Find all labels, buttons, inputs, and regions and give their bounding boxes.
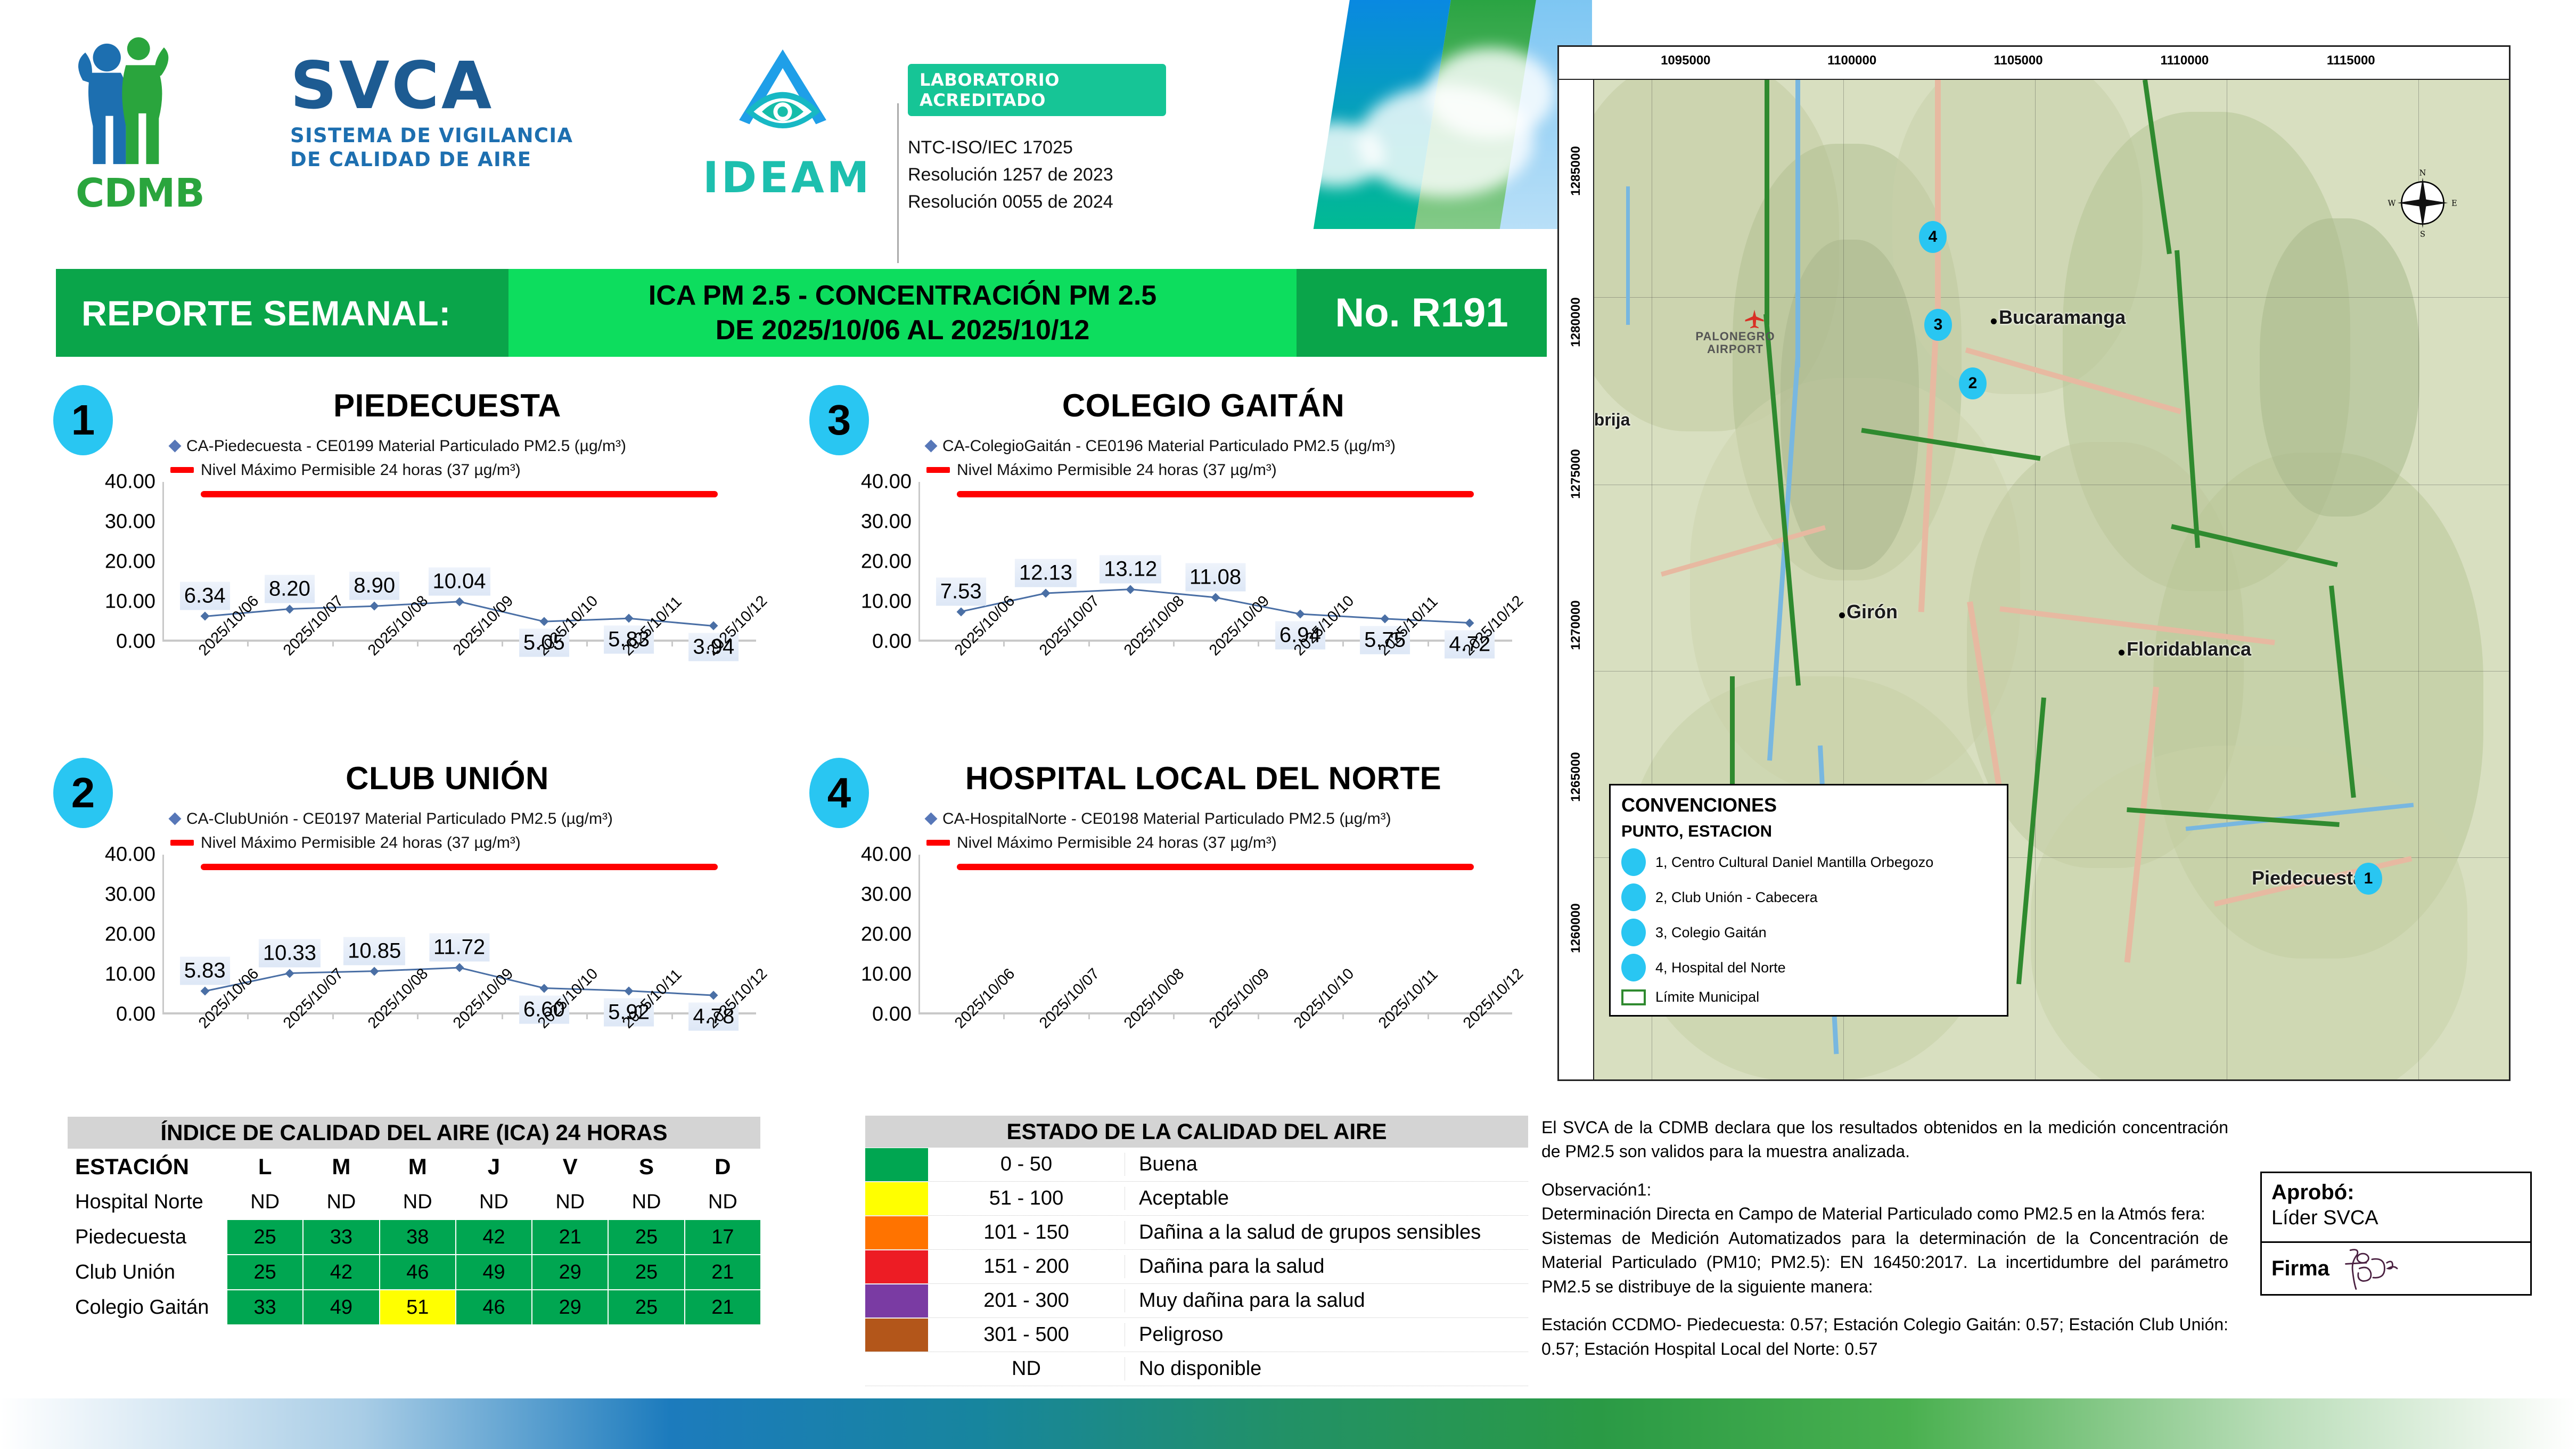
- chart-3-ytick-1: 30.00: [861, 511, 912, 534]
- series-marker-icon: [924, 812, 937, 825]
- chart-3-title: COLEGIO GAITÁN: [884, 387, 1523, 424]
- ica-station-name-0: Hospital Norte: [67, 1184, 227, 1219]
- chart-3-ytick-3: 10.00: [861, 591, 912, 613]
- ica-column-header-4: J: [456, 1149, 532, 1184]
- chart-2-datalabel-3: 11.72: [429, 934, 489, 962]
- declaration-text: El SVCA de la CDMB declara que los resul…: [1541, 1116, 2228, 1361]
- series-marker-icon: [168, 439, 181, 452]
- ica-cell-1-1: 33: [303, 1219, 379, 1255]
- ica-cell-2-5: 25: [608, 1255, 684, 1290]
- declaration-p4: Sistemas de Medición Automatizados para …: [1541, 1226, 2228, 1299]
- aqi-color-swatch-1: [865, 1182, 928, 1215]
- ica-cell-2-4: 29: [532, 1255, 608, 1290]
- report-page: CDMB SVCA SISTEMA DE VIGILANCIA DE CALID…: [0, 0, 2576, 1449]
- chart-1-number-badge: 1: [53, 385, 113, 455]
- ica-cell-2-3: 49: [456, 1255, 532, 1290]
- aqi-range-1: 51 - 100: [928, 1187, 1125, 1210]
- ica-cell-3-3: 46: [456, 1290, 532, 1325]
- ica-cell-3-5: 25: [608, 1290, 684, 1325]
- ica-table-caption: ÍNDICE DE CALIDAD DEL AIRE (ICA) 24 HORA…: [67, 1116, 761, 1149]
- chart-3: 3 COLEGIO GAITÁN CA-ColegioGaitán - CE01…: [804, 375, 1565, 727]
- chart-3-ytick-4: 0.00: [872, 631, 912, 653]
- chart-4-ytick-1: 30.00: [861, 883, 912, 906]
- ica-cell-0-6: ND: [685, 1184, 761, 1219]
- map-ytick-0: 1285000: [1569, 146, 1584, 195]
- chart-2-ytick-2: 20.00: [105, 923, 155, 946]
- map-legend-item-4: 4, Hospital del Norte: [1655, 960, 1786, 976]
- ica-cell-1-3: 42: [456, 1219, 532, 1255]
- svg-text:E: E: [2451, 199, 2457, 208]
- svg-text:N: N: [2419, 169, 2426, 178]
- ica-cell-3-1: 49: [303, 1290, 379, 1325]
- ica-column-header-0: ESTACIÓN: [67, 1149, 227, 1184]
- station-location-map: 10950001100000110500011100001115000 1285…: [1557, 45, 2511, 1081]
- chart-2-datalabel-2: 10.85: [343, 937, 405, 965]
- chart-2-legend: CA-ClubUnión - CE0197 Material Particula…: [170, 807, 613, 855]
- accreditation-badge: LABORATORIO ACREDITADO: [908, 64, 1166, 116]
- svca-logo: SVCA SISTEMA DE VIGILANCIA DE CALIDAD DE…: [290, 53, 620, 171]
- chart-3-legend: CA-ColegioGaitán - CE0196 Material Parti…: [926, 434, 1396, 482]
- aqi-range-5: 301 - 500: [928, 1323, 1125, 1346]
- map-xtick-2: 1105000: [1993, 53, 2042, 68]
- chart-4-title: HOSPITAL LOCAL DEL NORTE: [884, 760, 1523, 797]
- aqi-legend-row-0: 0 - 50 Buena: [865, 1148, 1528, 1182]
- aqi-legend-row-4: 201 - 300 Muy dañina para la salud: [865, 1284, 1528, 1318]
- logo-row: CDMB SVCA SISTEMA DE VIGILANCIA DE CALID…: [48, 24, 1166, 237]
- aqi-range-6: ND: [928, 1357, 1125, 1380]
- chart-2-datalabel-0: 5.83: [180, 957, 230, 985]
- ica-column-header-5: V: [532, 1149, 608, 1184]
- ica-cell-1-2: 38: [380, 1219, 456, 1255]
- ica-cell-3-2: 51: [380, 1290, 456, 1325]
- report-title-line1: ICA PM 2.5 - CONCENTRACIÓN PM 2.5: [649, 279, 1156, 313]
- table-row: Club Unión25424649292521: [67, 1255, 761, 1290]
- map-ytick-3: 1270000: [1569, 601, 1584, 650]
- aqi-label-1: Aceptable: [1125, 1187, 1229, 1210]
- aqi-legend-row-2: 101 - 150 Dañina a la salud de grupos se…: [865, 1216, 1528, 1250]
- approval-role: Líder SVCA: [2271, 1207, 2521, 1230]
- map-marker-4[interactable]: 4: [1919, 221, 1947, 253]
- ica-cell-2-2: 46: [380, 1255, 456, 1290]
- chart-1-datalabel-2: 8.90: [349, 572, 399, 600]
- ica-cell-3-6: 21: [685, 1290, 761, 1325]
- ica-cell-2-0: 25: [227, 1255, 303, 1290]
- ica-column-header-3: M: [380, 1149, 456, 1184]
- map-xtick-0: 1095000: [1661, 53, 1710, 68]
- map-legend-subtitle: PUNTO, ESTACION: [1621, 822, 1996, 841]
- chart-4-ytick-0: 40.00: [861, 844, 912, 866]
- airport-icon: [1744, 309, 1765, 329]
- chart-4-limit-legend: Nivel Máximo Permisible 24 horas (37 µg/…: [957, 831, 1277, 855]
- chart-1-datalabel-1: 8.20: [265, 575, 315, 603]
- ica-cell-0-5: ND: [608, 1184, 684, 1219]
- chart-1-datalabel-0: 6.34: [180, 582, 230, 610]
- ica-station-name-1: Piedecuesta: [67, 1219, 227, 1255]
- ica-column-header-7: D: [685, 1149, 761, 1184]
- map-marker-2[interactable]: 2: [1959, 367, 1987, 399]
- limit-line-icon: [170, 840, 194, 846]
- map-legend-title: CONVENCIONES: [1621, 794, 1996, 816]
- svca-subtitle-line2: DE CALIDAD DE AIRE: [290, 148, 620, 171]
- report-banner: REPORTE SEMANAL: ICA PM 2.5 - CONCENTRAC…: [56, 269, 1547, 357]
- map-ytick-4: 1265000: [1569, 752, 1584, 801]
- table-row: Hospital NorteNDNDNDNDNDNDND: [67, 1184, 761, 1219]
- chart-4-plot: 40.0030.0020.0010.000.00 2025/10/062025/…: [804, 855, 1565, 1100]
- svg-text:W: W: [2388, 199, 2395, 208]
- approval-title: Aprobó:: [2271, 1181, 2521, 1205]
- ica-station-name-3: Colegio Gaitán: [67, 1290, 227, 1325]
- accreditation-block: LABORATORIO ACREDITADO NTC-ISO/IEC 17025…: [908, 64, 1166, 216]
- aqi-status-legend: ESTADO DE LA CALIDAD DEL AIRE 0 - 50 Bue…: [865, 1116, 1528, 1386]
- chart-4: 4 HOSPITAL LOCAL DEL NORTE CA-HospitalNo…: [804, 748, 1565, 1100]
- aqi-legend-row-5: 301 - 500 Peligroso: [865, 1318, 1528, 1352]
- aqi-label-3: Dañina para la salud: [1125, 1255, 1325, 1278]
- chart-3-series-legend: CA-ColegioGaitán - CE0196 Material Parti…: [942, 434, 1396, 458]
- declaration-p3: Determinación Directa en Campo de Materi…: [1541, 1202, 2228, 1226]
- ideam-eye-icon: [729, 45, 836, 149]
- map-ytick-2: 1275000: [1569, 449, 1584, 498]
- map-xtick-3: 1110000: [2160, 53, 2209, 68]
- svca-acronym: SVCA: [290, 53, 620, 118]
- aqi-range-0: 0 - 50: [928, 1153, 1125, 1176]
- map-legend-item-3: 3, Colegio Gaitán: [1655, 924, 1767, 941]
- city-label-piedecuesta: Piedecuesta: [2252, 867, 2364, 889]
- ica-cell-0-3: ND: [456, 1184, 532, 1219]
- chart-4-ytick-4: 0.00: [872, 1003, 912, 1026]
- cdmb-logo: CDMB: [64, 37, 218, 213]
- map-canvas: PALONEGRO AIRPORT Bucaramanga Girón Flor…: [1594, 80, 2509, 1079]
- chart-3-limit-legend: Nivel Máximo Permisible 24 horas (37 µg/…: [957, 458, 1277, 482]
- airport-label: PALONEGRO AIRPORT: [1674, 330, 1796, 356]
- cdmb-logo-text: CDMB: [76, 170, 204, 216]
- ica-cell-2-1: 42: [303, 1255, 379, 1290]
- chart-1: 1 PIEDECUESTA CA-Piedecuesta - CE0199 Ma…: [48, 375, 809, 727]
- ideam-logo-text: IDEAM: [703, 153, 863, 202]
- aqi-color-swatch-2: [865, 1216, 928, 1249]
- ica-column-header-2: M: [303, 1149, 379, 1184]
- aqi-legend-caption: ESTADO DE LA CALIDAD DEL AIRE: [865, 1116, 1528, 1148]
- city-label-floridablanca: Floridablanca: [2127, 638, 2251, 660]
- chart-2-ytick-0: 40.00: [105, 844, 155, 866]
- map-legend-dot-icon-3: [1621, 919, 1646, 946]
- map-ytick-5: 1260000: [1569, 904, 1584, 953]
- report-banner-label: REPORTE SEMANAL:: [56, 269, 508, 357]
- chart-4-ytick-2: 20.00: [861, 923, 912, 946]
- series-marker-icon: [924, 439, 937, 452]
- chart-2-limit-legend: Nivel Máximo Permisible 24 horas (37 µg/…: [201, 831, 521, 855]
- aqi-color-swatch-6: [865, 1353, 928, 1386]
- ica-cell-2-6: 21: [685, 1255, 761, 1290]
- aqi-color-swatch-0: [865, 1148, 928, 1181]
- city-label-giron: Girón: [1847, 601, 1898, 623]
- ica-station-name-2: Club Unión: [67, 1255, 227, 1290]
- chart-3-datalabel-2: 13.12: [1100, 555, 1161, 583]
- chart-2-title: CLUB UNIÓN: [128, 760, 767, 797]
- svg-text:S: S: [2420, 230, 2425, 238]
- chart-4-ytick-3: 10.00: [861, 963, 912, 986]
- map-legend-dot-icon-4: [1621, 954, 1646, 981]
- map-legend-boundary-label: Límite Municipal: [1655, 989, 1759, 1005]
- ica-column-header-1: L: [227, 1149, 303, 1184]
- ica-cell-1-6: 17: [685, 1219, 761, 1255]
- footer-gradient-bar: [0, 1398, 2576, 1449]
- chart-3-ytick-0: 40.00: [861, 471, 912, 494]
- chart-1-limit-legend: Nivel Máximo Permisible 24 horas (37 µg/…: [201, 458, 521, 482]
- chart-2-ytick-4: 0.00: [116, 1003, 155, 1026]
- ica-cell-0-4: ND: [532, 1184, 608, 1219]
- aqi-label-2: Dañina a la salud de grupos sensibles: [1125, 1221, 1481, 1244]
- aqi-legend-row-6: ND No disponible: [865, 1352, 1528, 1386]
- chart-3-datalabel-3: 11.08: [1185, 563, 1245, 591]
- chart-4-limit-line: [957, 864, 1474, 870]
- table-row: Colegio Gaitán33495146292521: [67, 1290, 761, 1325]
- declaration-p5: Estación CCDMO- Piedecuesta: 0.57; Estac…: [1541, 1313, 2228, 1361]
- aqi-legend-row-1: 51 - 100 Aceptable: [865, 1182, 1528, 1216]
- aqi-label-0: Buena: [1125, 1153, 1197, 1176]
- chart-1-ytick-1: 30.00: [105, 511, 155, 534]
- map-xtick-1: 1100000: [1827, 53, 1876, 68]
- map-legend-boundary-icon: [1621, 989, 1646, 1005]
- chart-1-plot: 40.0030.0020.0010.000.00 6.348.208.9010.…: [48, 482, 809, 727]
- map-legend-item-1: 1, Centro Cultural Daniel Mantilla Orbeg…: [1655, 854, 1933, 871]
- map-marker-1[interactable]: 1: [2355, 863, 2382, 895]
- aqi-range-4: 201 - 300: [928, 1289, 1125, 1312]
- map-marker-3[interactable]: 3: [1924, 309, 1952, 341]
- chart-1-datalabel-3: 10.04: [428, 567, 490, 595]
- chart-3-number-badge: 3: [809, 385, 869, 455]
- signature-label: Firma: [2271, 1257, 2329, 1281]
- ica-cell-1-5: 25: [608, 1219, 684, 1255]
- chart-4-series-legend: CA-HospitalNorte - CE0198 Material Parti…: [942, 807, 1391, 831]
- ica-cell-0-1: ND: [303, 1184, 379, 1219]
- map-x-axis-ruler: 10950001100000110500011100001115000: [1559, 47, 2509, 80]
- map-ytick-1: 1280000: [1569, 298, 1584, 347]
- table-row: Piedecuesta25333842212517: [67, 1219, 761, 1255]
- chart-4-number-badge: 4: [809, 758, 869, 828]
- aqi-label-5: Peligroso: [1125, 1323, 1223, 1346]
- chart-3-datalabel-1: 12.13: [1015, 559, 1077, 587]
- approval-box: Aprobó: Líder SVCA Firma: [2260, 1172, 2532, 1296]
- signature-image: [2341, 1246, 2421, 1291]
- chart-1-ytick-3: 10.00: [105, 591, 155, 613]
- map-legend-dot-icon-2: [1621, 883, 1646, 911]
- chart-4-legend: CA-HospitalNorte - CE0198 Material Parti…: [926, 807, 1391, 855]
- chart-3-ytick-2: 20.00: [861, 551, 912, 574]
- chart-1-ytick-0: 40.00: [105, 471, 155, 494]
- chart-2-series-legend: CA-ClubUnión - CE0197 Material Particula…: [186, 807, 613, 831]
- ica-column-header-6: S: [608, 1149, 684, 1184]
- chart-2: 2 CLUB UNIÓN CA-ClubUnión - CE0197 Mater…: [48, 748, 809, 1100]
- chart-1-legend: CA-Piedecuesta - CE0199 Material Particu…: [170, 434, 626, 482]
- header-decoration: [1198, 0, 1592, 229]
- accreditation-line-0: NTC-ISO/IEC 17025: [908, 134, 1166, 161]
- report-number: No. R191: [1297, 269, 1547, 357]
- aqi-color-swatch-5: [865, 1319, 928, 1352]
- compass-rose-icon: N S E W: [2388, 168, 2458, 238]
- ica-table-header-row: ESTACIÓNLMMJVSD: [67, 1149, 761, 1184]
- ica-table: ÍNDICE DE CALIDAD DEL AIRE (ICA) 24 HORA…: [67, 1116, 761, 1325]
- ica-cell-1-4: 21: [532, 1219, 608, 1255]
- report-title-line2: DE 2025/10/06 AL 2025/10/12: [716, 313, 1090, 348]
- limit-line-icon: [926, 840, 950, 846]
- chart-2-plot: 40.0030.0020.0010.000.00 5.8310.3310.851…: [48, 855, 809, 1100]
- declaration-p1: El SVCA de la CDMB declara que los resul…: [1541, 1116, 2228, 1164]
- limit-line-icon: [926, 467, 950, 473]
- ica-cell-3-0: 33: [227, 1290, 303, 1325]
- city-label-bucaramanga: Bucaramanga: [1999, 306, 2126, 329]
- aqi-legend-row-3: 151 - 200 Dañina para la salud: [865, 1250, 1528, 1284]
- chart-3-datalabel-0: 7.53: [936, 577, 986, 605]
- ideam-logo: IDEAM: [703, 45, 863, 202]
- aqi-range-2: 101 - 150: [928, 1221, 1125, 1244]
- chart-1-ytick-4: 0.00: [116, 631, 155, 653]
- declaration-p2: Observación1:: [1541, 1178, 2228, 1202]
- report-banner-title: ICA PM 2.5 - CONCENTRACIÓN PM 2.5 DE 202…: [508, 269, 1297, 357]
- accreditation-line-2: Resolución 0055 de 2024: [908, 189, 1166, 216]
- chart-2-number-badge: 2: [53, 758, 113, 828]
- limit-line-icon: [170, 467, 194, 473]
- series-marker-icon: [168, 812, 181, 825]
- chart-2-datalabel-1: 10.33: [259, 939, 321, 967]
- aqi-label-6: No disponible: [1125, 1357, 1261, 1380]
- accreditation-line-1: Resolución 1257 de 2023: [908, 161, 1166, 189]
- aqi-color-swatch-3: [865, 1250, 928, 1283]
- ica-cell-1-0: 25: [227, 1219, 303, 1255]
- svca-subtitle-line1: SISTEMA DE VIGILANCIA: [290, 124, 620, 148]
- map-xtick-4: 1115000: [2327, 53, 2375, 68]
- aqi-color-swatch-4: [865, 1284, 928, 1317]
- chart-1-title: PIEDECUESTA: [128, 387, 767, 424]
- map-legend-dot-icon-1: [1621, 848, 1646, 876]
- map-y-axis-ruler: 1285000128000012750001270000126500012600…: [1559, 80, 1594, 1079]
- chart-3-plot: 40.0030.0020.0010.000.00 7.5312.1313.121…: [804, 482, 1565, 727]
- city-label-lebrija: ebrija: [1594, 410, 1630, 430]
- aqi-label-4: Muy dañina para la salud: [1125, 1289, 1365, 1312]
- chart-2-ytick-1: 30.00: [105, 883, 155, 906]
- map-legend: CONVENCIONES PUNTO, ESTACION 1, Centro C…: [1609, 784, 2008, 1017]
- chart-1-ytick-2: 20.00: [105, 551, 155, 574]
- map-legend-item-2: 2, Club Unión - Cabecera: [1655, 889, 1818, 906]
- aqi-range-3: 151 - 200: [928, 1255, 1125, 1278]
- chart-2-ytick-3: 10.00: [105, 963, 155, 986]
- ica-cell-0-2: ND: [380, 1184, 456, 1219]
- chart-1-series-legend: CA-Piedecuesta - CE0199 Material Particu…: [186, 434, 626, 458]
- ica-cell-3-4: 29: [532, 1290, 608, 1325]
- ica-cell-0-0: ND: [227, 1184, 303, 1219]
